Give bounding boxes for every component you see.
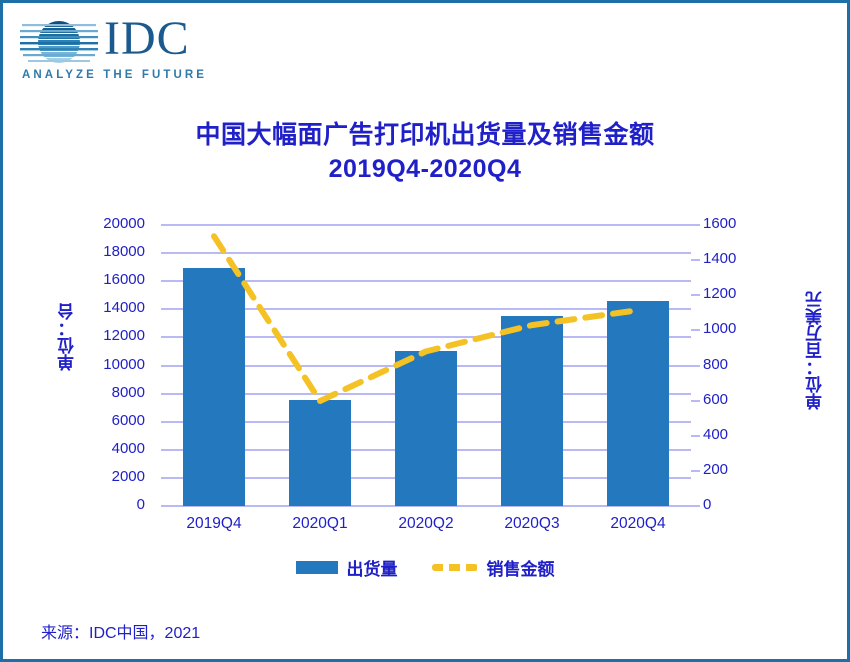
y-tick-label-right: 1600 xyxy=(703,215,736,232)
y-axis-title-right: 单位：百万美元 xyxy=(803,291,828,410)
x-tick-label: 2020Q2 xyxy=(366,515,486,533)
y-tick-label-left: 20000 xyxy=(103,215,145,232)
y-tick-label-left: 0 xyxy=(137,496,145,513)
y-axis-tick-mark xyxy=(691,470,700,472)
legend-item[interactable]: 销售金额 xyxy=(432,555,555,580)
y-axis-tick-mark xyxy=(691,224,700,226)
y-tick-label-right: 1400 xyxy=(703,250,736,267)
y-tick-label-right: 400 xyxy=(703,426,728,443)
legend-label: 出货量 xyxy=(347,555,398,580)
y-axis-tick-mark xyxy=(691,435,700,437)
y-tick-label-right: 600 xyxy=(703,391,728,408)
legend-bar-swatch-icon xyxy=(296,561,338,574)
sales-value-line xyxy=(214,236,638,401)
line-series xyxy=(161,225,691,506)
y-tick-label-right: 1000 xyxy=(703,320,736,337)
chart-legend: 出货量销售金额 xyxy=(3,555,847,580)
chart-title-line2: 2019Q4-2020Q4 xyxy=(3,155,847,184)
y-axis-tick-mark xyxy=(691,365,700,367)
y-tick-label-left: 18000 xyxy=(103,243,145,260)
y-axis-tick-mark xyxy=(691,259,700,261)
y-tick-label-left: 6000 xyxy=(112,412,145,429)
y-axis-title-left: 单位：台 xyxy=(55,303,80,371)
y-axis-tick-mark xyxy=(691,294,700,296)
x-tick-label: 2020Q4 xyxy=(578,515,698,533)
idc-logo: IDC ANALYZE THE FUTURE xyxy=(20,15,220,85)
chart-title-line1: 中国大幅面广告打印机出货量及销售金额 xyxy=(3,115,847,151)
y-tick-label-left: 12000 xyxy=(103,327,145,344)
source-note: 来源：IDC中国，2021 xyxy=(41,619,200,643)
y-tick-label-left: 14000 xyxy=(103,299,145,316)
chart-page: IDC ANALYZE THE FUTURE 中国大幅面广告打印机出货量及销售金… xyxy=(0,0,850,662)
idc-tagline: ANALYZE THE FUTURE xyxy=(22,69,207,81)
y-tick-label-right: 1200 xyxy=(703,285,736,302)
y-axis-tick-mark xyxy=(691,505,700,507)
y-axis-tick-mark xyxy=(691,400,700,402)
legend-label: 销售金额 xyxy=(487,555,555,580)
y-tick-label-left: 8000 xyxy=(112,384,145,401)
y-tick-label-right: 800 xyxy=(703,356,728,373)
idc-wordmark: IDC xyxy=(104,13,190,65)
y-tick-label-left: 2000 xyxy=(112,468,145,485)
legend-dashed-line-icon xyxy=(432,564,478,571)
y-tick-label-left: 16000 xyxy=(103,271,145,288)
y-tick-label-right: 200 xyxy=(703,461,728,478)
x-tick-label: 2019Q4 xyxy=(154,515,274,533)
y-tick-label-left: 4000 xyxy=(112,440,145,457)
y-tick-label-left: 10000 xyxy=(103,356,145,373)
y-axis-tick-mark xyxy=(691,329,700,331)
idc-globe-icon xyxy=(20,17,98,67)
legend-item[interactable]: 出货量 xyxy=(296,555,398,580)
x-tick-label: 2020Q1 xyxy=(260,515,380,533)
x-tick-label: 2020Q3 xyxy=(472,515,592,533)
y-tick-label-right: 0 xyxy=(703,496,711,513)
